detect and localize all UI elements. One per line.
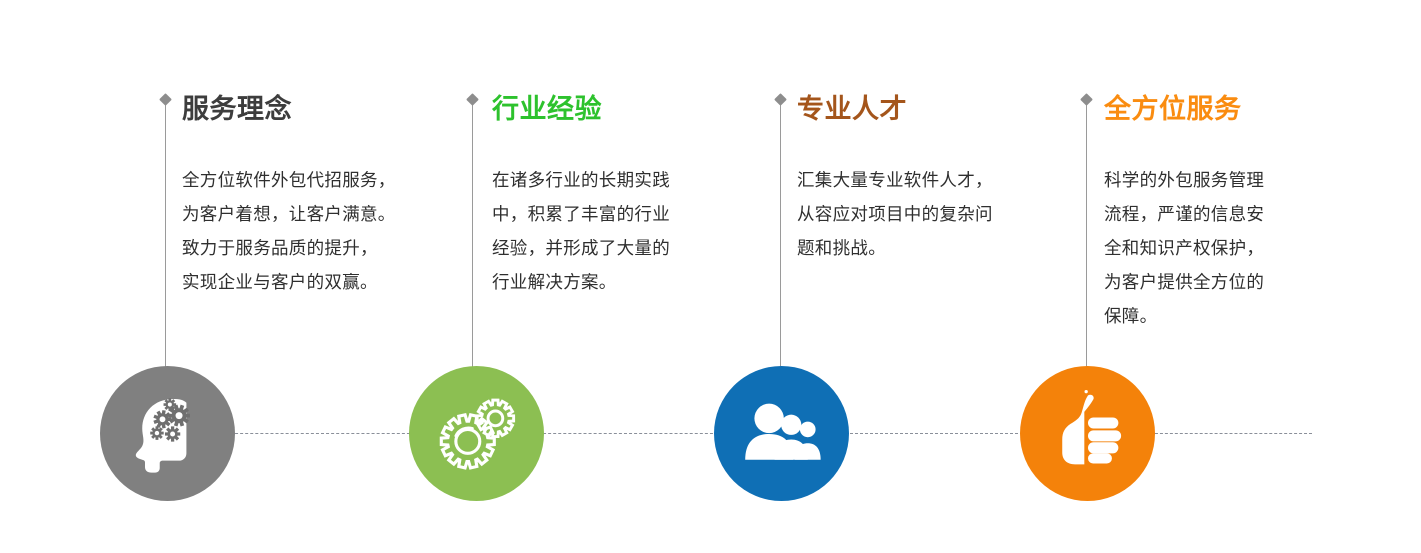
body-line: 中，积累了丰富的行业 bbox=[492, 197, 717, 231]
body-line: 为客户着想，让客户满意。 bbox=[182, 197, 442, 231]
body-line: 保障。 bbox=[1104, 299, 1304, 333]
body-line: 在诸多行业的长期实践 bbox=[492, 163, 717, 197]
icon-circle-professional-talent[interactable] bbox=[714, 366, 849, 501]
column-heading: 行业经验 bbox=[492, 93, 602, 125]
stem-line bbox=[780, 101, 781, 401]
body-line: 科学的外包服务管理 bbox=[1104, 163, 1304, 197]
body-line: 为客户提供全方位的 bbox=[1104, 265, 1304, 299]
icon-circle-service-concept[interactable] bbox=[100, 366, 235, 501]
icon-circle-full-service[interactable] bbox=[1020, 366, 1155, 501]
thumbs-up-icon bbox=[1042, 388, 1134, 480]
body-line: 流程，严谨的信息安 bbox=[1104, 197, 1304, 231]
column-body-text: 全方位软件外包代招服务，为客户着想，让客户满意。致力于服务品质的提升，实现企业与… bbox=[182, 163, 442, 299]
body-line: 全和知识产权保护， bbox=[1104, 231, 1304, 265]
column-body-text: 汇集大量专业软件人才，从容应对项目中的复杂问题和挑战。 bbox=[797, 163, 1037, 265]
stem-line bbox=[1086, 101, 1087, 401]
dashed-connector-segment-2 bbox=[538, 433, 718, 434]
column-heading: 全方位服务 bbox=[1104, 93, 1242, 125]
infographic-canvas: 服务理念全方位软件外包代招服务，为客户着想，让客户满意。致力于服务品质的提升，实… bbox=[0, 0, 1421, 553]
people-group-icon bbox=[736, 388, 828, 480]
stem-marker-dot bbox=[1080, 93, 1093, 106]
column-heading: 专业人才 bbox=[797, 93, 907, 125]
body-line: 经验，并形成了大量的 bbox=[492, 231, 717, 265]
body-line: 全方位软件外包代招服务， bbox=[182, 163, 442, 197]
column-body-text: 在诸多行业的长期实践中，积累了丰富的行业经验，并形成了大量的行业解决方案。 bbox=[492, 163, 717, 299]
gears-icon bbox=[431, 388, 523, 480]
stem-line bbox=[165, 101, 166, 401]
body-line: 致力于服务品质的提升， bbox=[182, 231, 442, 265]
stem-marker-dot bbox=[774, 93, 787, 106]
body-line: 汇集大量专业软件人才， bbox=[797, 163, 1037, 197]
body-line: 实现企业与客户的双赢。 bbox=[182, 265, 442, 299]
body-line: 题和挑战。 bbox=[797, 231, 1037, 265]
body-line: 从容应对项目中的复杂问 bbox=[797, 197, 1037, 231]
stem-marker-dot bbox=[159, 93, 172, 106]
stem-line bbox=[472, 101, 473, 401]
dashed-connector-segment-4 bbox=[1150, 433, 1312, 434]
icon-circle-industry-experience[interactable] bbox=[409, 366, 544, 501]
dashed-connector-segment-3 bbox=[845, 433, 1023, 434]
column-body-text: 科学的外包服务管理流程，严谨的信息安全和知识产权保护，为客户提供全方位的保障。 bbox=[1104, 163, 1304, 333]
head-gears-icon bbox=[122, 388, 214, 480]
stem-marker-dot bbox=[466, 93, 479, 106]
column-heading: 服务理念 bbox=[182, 93, 292, 125]
body-line: 行业解决方案。 bbox=[492, 265, 717, 299]
dashed-connector-segment-1 bbox=[230, 433, 415, 434]
